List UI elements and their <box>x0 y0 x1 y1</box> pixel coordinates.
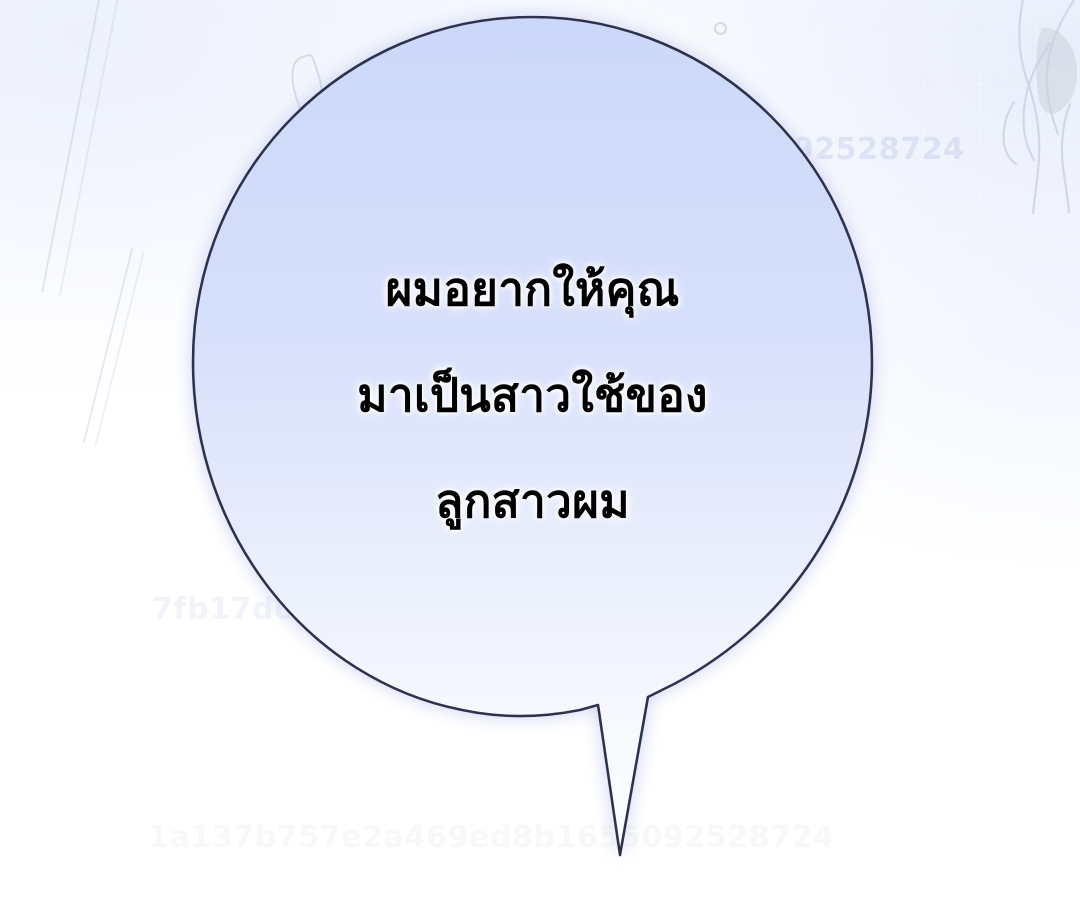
comic-panel: 1a137b757e2a469ed8b1655092528724 7fb17dc… <box>0 0 1080 900</box>
speech-bubble-text: ผมอยากให้คุณ มาเป็นสาวใช้ของ ลูกสาวผม <box>193 236 872 554</box>
dialogue-line-1: ผมอยากให้คุณ <box>193 236 872 342</box>
dialogue-line-3: ลูกสาวผม <box>193 448 872 554</box>
dialogue-line-2: มาเป็นสาวใช้ของ <box>193 342 872 448</box>
